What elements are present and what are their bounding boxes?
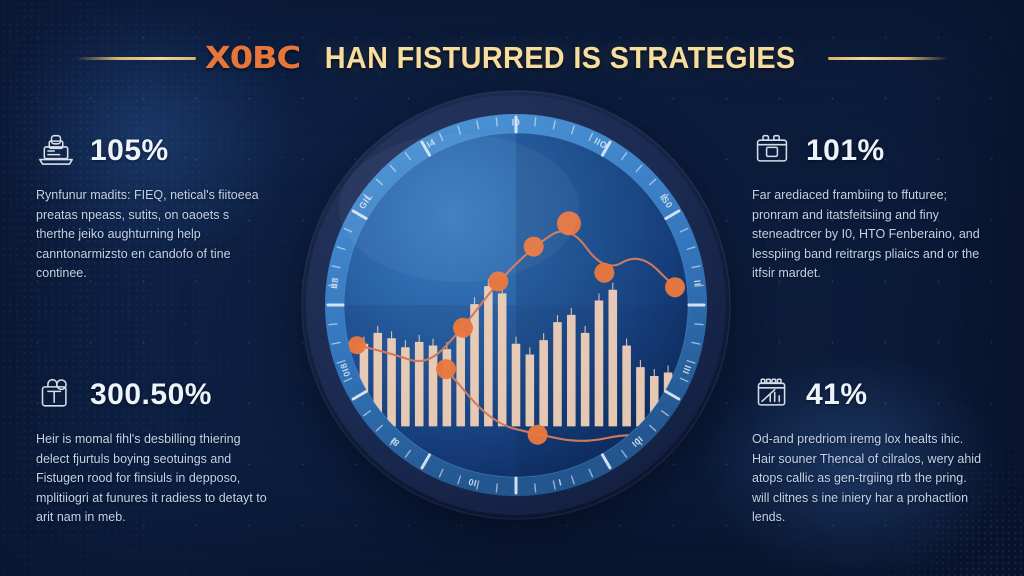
lock-bag-icon [36, 377, 76, 413]
stat-top-right: 101% Far arediaced frambiing to ffuturee… [752, 128, 984, 284]
stat-description: Od-and predriom iremg lox healts ihic. H… [752, 430, 984, 528]
brand-logo-icon: X0BC [205, 41, 300, 76]
stat-description: Rynfunur madits: FIEQ, netical's fiitoee… [36, 186, 268, 284]
stat-value: 300.50% [90, 378, 212, 412]
stat-value: 41% [806, 378, 868, 412]
title-group: X0BC HAN FISTURRED IS STRATEGIES [210, 40, 813, 76]
header-rule-left [76, 57, 196, 60]
stat-description: Far arediaced frambiing to ffuturee; pro… [752, 186, 984, 284]
stat-bottom-right: 41% Od-and predriom iremg lox healts ihi… [752, 372, 984, 528]
stat-value: 105% [90, 134, 169, 168]
stat-description: Heir is momal fihl's desbilling thiering… [36, 430, 268, 528]
page-title: HAN FISTURRED IS STRATEGIES [325, 40, 796, 76]
stat-top-left: 105% Rynfunur madits: FIEQ, netical's fi… [36, 128, 268, 284]
stat-header: 300.50% [36, 372, 268, 418]
dial-shadow [306, 95, 726, 515]
laptop-lock-icon [36, 133, 76, 169]
chart-calendar-icon [752, 377, 792, 413]
circular-chart: I0IIOIS0IIIIII0III08I0I8II8GILI4 [299, 88, 733, 522]
stat-header: 41% [752, 372, 984, 418]
stat-header: 105% [36, 128, 268, 174]
infographic-canvas: X0BC HAN FISTURRED IS STRATEGIES 105% Ry… [0, 0, 1024, 576]
header-rule-right [828, 57, 948, 60]
stat-header: 101% [752, 128, 984, 174]
header: X0BC HAN FISTURRED IS STRATEGIES [0, 30, 1024, 86]
stat-value: 101% [806, 134, 885, 168]
toolbox-icon [752, 133, 792, 169]
stat-bottom-left: 300.50% Heir is momal fihl's desbilling … [36, 372, 268, 528]
